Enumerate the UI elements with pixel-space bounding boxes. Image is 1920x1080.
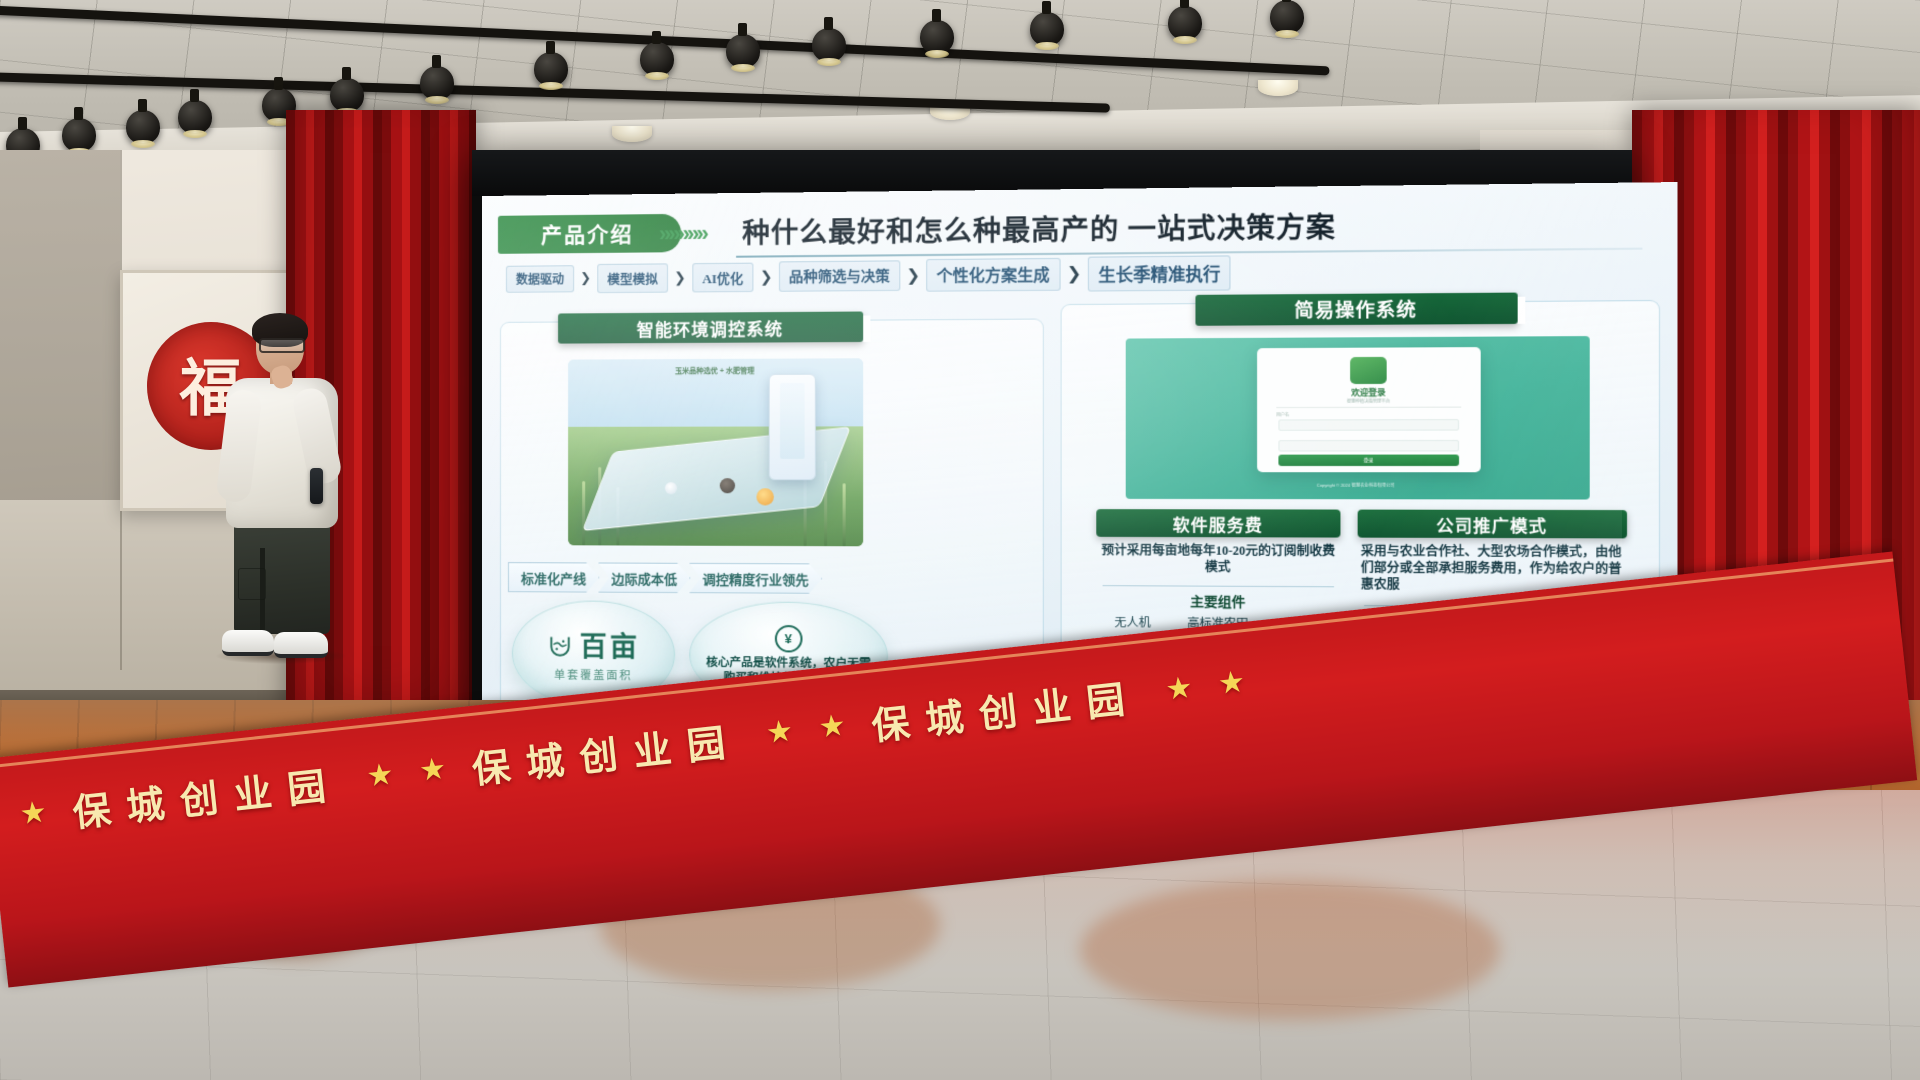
slide-section-badge: 产品介绍: [498, 214, 681, 254]
track-spotlight: [420, 66, 454, 100]
tag-leading-precision[interactable]: 调控精度行业领先: [689, 563, 822, 594]
illustration-chip-dark: [720, 478, 735, 493]
illustration-chip-light: [665, 482, 677, 494]
presenter-cargo-pocket: [238, 568, 266, 600]
app-username-input[interactable]: [1278, 419, 1459, 431]
track-spotlight: [726, 34, 760, 68]
app-footer-copyright: Copyright © 2024 智慧农业科技有限公司: [1126, 482, 1590, 489]
presenter-shoe-left: [222, 630, 274, 656]
app-login-subtitle: 智慧种植决策管理平台: [1257, 398, 1481, 405]
app-field-label-user: 用户名: [1098, 412, 1480, 419]
flow-step-1[interactable]: 数据驱动: [506, 265, 574, 293]
track-spotlight: [534, 52, 568, 86]
left-panel-illustration: 玉米品种选优 + 水肥管理: [568, 358, 863, 546]
track-spotlight: [812, 28, 846, 62]
app-password-input[interactable]: [1278, 440, 1459, 452]
flow-step-3[interactable]: AI优化: [692, 262, 754, 292]
app-logo-icon: [1350, 357, 1387, 384]
flow-step-5[interactable]: 个性化方案生成: [926, 258, 1060, 292]
flow-arrow-icon: ❯: [903, 265, 923, 286]
app-login-button-label: 登录: [1278, 455, 1459, 466]
service-fee-item-1: 无人机: [1114, 614, 1150, 631]
divider: [1103, 585, 1334, 587]
app-divider: [1276, 407, 1461, 408]
track-spotlight: [640, 42, 674, 76]
crop-stalk: [843, 483, 846, 546]
left-panel-header: 智能环境调控系统: [558, 311, 863, 343]
stat-label-coverage: 单套覆盖面积: [554, 667, 633, 684]
banner-venue-name: 保城创业园: [469, 710, 743, 794]
flow-step-4[interactable]: 品种筛选与决策: [779, 260, 900, 291]
tag-standardized-line[interactable]: 标准化产线: [508, 562, 599, 593]
presenter-shoe-right: [274, 632, 328, 658]
app-screenshot: 欢迎登录 智慧种植决策管理平台 用户名 登录 Copyright © 2024 …: [1126, 336, 1590, 499]
slide-headline: 种什么最好和怎么种最高产的 一站式决策方案: [742, 205, 1336, 251]
promotion-model-header: 公司推广模式: [1358, 510, 1627, 539]
tag-low-marginal-cost[interactable]: 边际成本低: [598, 562, 690, 593]
track-spotlight: [62, 118, 96, 152]
track-spotlight: [1168, 6, 1202, 40]
star-icon: ★: [1217, 667, 1247, 700]
left-panel-tags: 标准化产线 边际成本低 调控精度行业领先: [508, 562, 821, 594]
service-fee-paragraph: 预计采用每亩地每年10-20元的订阅制收费模式: [1096, 542, 1340, 576]
presenter: [212, 318, 362, 663]
floor-reflection-blob: [1080, 880, 1500, 1020]
ceiling-dome-light: [1258, 80, 1298, 96]
presenter-microphone: [310, 468, 323, 504]
chevron-decoration-icon: »»»»»: [659, 221, 706, 248]
flow-step-6[interactable]: 生长季精准执行: [1088, 255, 1231, 291]
track-spotlight: [1270, 0, 1304, 34]
banner-venue-name: 保城创业园: [70, 753, 344, 837]
flow-arrow-icon: ❯: [757, 268, 776, 286]
star-icon: ★: [765, 716, 795, 749]
illustration-chip-orange: [756, 488, 773, 505]
crop-stalk: [582, 481, 585, 545]
flow-step-2[interactable]: 模型模拟: [597, 263, 668, 293]
track-spotlight: [330, 78, 364, 112]
ceiling-dome-light: [612, 126, 652, 142]
star-icon: ★: [817, 711, 847, 744]
yen-icon: ¥: [774, 625, 802, 653]
star-icon: ★: [365, 760, 395, 793]
app-login-title: 欢迎登录: [1257, 387, 1481, 399]
star-icon: ★: [418, 754, 448, 787]
right-panel-header: 简易操作系统: [1195, 293, 1517, 326]
flow-arrow-icon: ❯: [1063, 264, 1084, 285]
process-flow: 数据驱动 ❯ 模型模拟 ❯ AI优化 ❯ 品种筛选与决策 ❯ 个性化方案生成 ❯…: [506, 252, 1662, 296]
area-icon: [547, 631, 573, 657]
flow-arrow-icon: ❯: [577, 270, 594, 286]
slide-title-row: 产品介绍 »»»»» 种什么最好和怎么种最高产的 一站式决策方案: [498, 203, 1660, 256]
star-icon: ★: [1164, 673, 1194, 706]
track-spotlight: [178, 100, 212, 134]
presenter-glasses: [259, 338, 305, 353]
stat-value-coverage: 百亩: [580, 625, 641, 665]
track-spotlight: [126, 110, 160, 144]
flow-arrow-icon: ❯: [671, 269, 689, 286]
illustration-phone-mockup: [769, 373, 816, 480]
auditorium-stage-scene: 福 产品介绍 »»»»» 种什么最好和怎么种最高产的 一站式决策方案 数据驱动 …: [0, 0, 1920, 1080]
service-fee-header: 软件服务费: [1096, 509, 1340, 537]
app-login-button[interactable]: 登录: [1278, 455, 1459, 466]
track-spotlight: [920, 20, 954, 54]
track-spotlight: [1030, 12, 1064, 46]
banner-venue-name: 保城创业园: [868, 666, 1142, 750]
illustration-caption: 玉米品种选优 + 水肥管理: [568, 366, 863, 377]
service-fee-subtitle: 主要组件: [1096, 590, 1340, 611]
star-icon: ★: [18, 797, 48, 830]
app-login-card: 欢迎登录 智慧种植决策管理平台 用户名 登录: [1257, 347, 1481, 472]
